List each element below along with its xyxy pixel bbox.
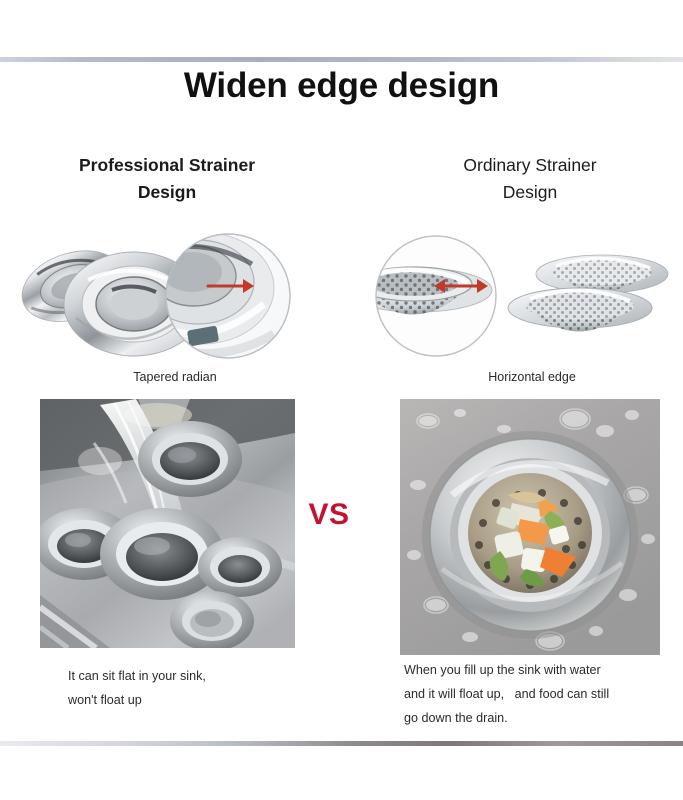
bottom-divider-bar <box>0 741 683 746</box>
left-heading-line-2: Design <box>22 179 312 206</box>
photo-drain-with-food <box>400 399 660 655</box>
left-photo-caption: It can sit flat in your sink, won't floa… <box>68 664 368 712</box>
ordinary-strainer-magnifier <box>358 228 518 378</box>
left-column-heading: Professional Strainer Design <box>22 152 312 206</box>
right-photo-caption: When you fill up the sink with water and… <box>404 658 676 730</box>
left-caption-line-1: It can sit flat in your sink, <box>68 664 368 688</box>
ordinary-strainer-illustration <box>498 240 683 365</box>
left-heading-line-1: Professional Strainer <box>22 152 312 179</box>
left-feature-caption: Tapered radian <box>60 370 290 384</box>
right-caption-line-3: go down the drain. <box>404 706 676 730</box>
comparison-strip: VS <box>0 228 683 388</box>
right-heading-line-2: Design <box>385 179 675 206</box>
top-divider-bar <box>0 57 683 62</box>
page-title: Widen edge design <box>0 66 683 106</box>
right-caption-line-2: and it will float up, and food can still <box>404 682 676 706</box>
right-heading-line-1: Ordinary Strainer <box>385 152 675 179</box>
versus-label: VS <box>296 498 362 532</box>
right-caption-line-1: When you fill up the sink with water <box>404 658 676 682</box>
right-feature-caption: Horizontal edge <box>412 370 652 384</box>
left-caption-line-2: won't float up <box>68 688 368 712</box>
right-column-heading: Ordinary Strainer Design <box>385 152 675 206</box>
photo-sink-running-water <box>40 399 295 648</box>
professional-strainer-magnifier <box>150 228 310 378</box>
